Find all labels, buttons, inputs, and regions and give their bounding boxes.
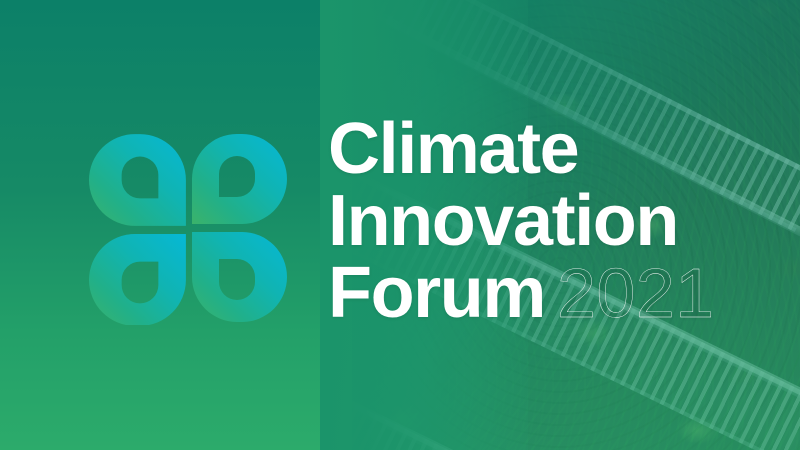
poster-canvas: Climate Innovation Forum 2021 <box>0 0 800 450</box>
headline-line-climate: Climate <box>328 113 715 185</box>
poster-headline: Climate Innovation Forum 2021 <box>328 113 715 329</box>
headline-year: 2021 <box>557 257 715 329</box>
headline-line-forum-year: Forum 2021 <box>328 257 715 329</box>
logo-petal-top-right <box>192 134 287 224</box>
logo-petal-bottom-left <box>89 234 186 325</box>
four-petal-quatrefoil-logo <box>88 128 288 325</box>
headline-line-innovation: Innovation <box>328 185 715 257</box>
logo-petal-top-left <box>89 134 186 226</box>
headline-line-forum: Forum <box>328 257 545 329</box>
logo-petal-bottom-right <box>192 232 287 322</box>
